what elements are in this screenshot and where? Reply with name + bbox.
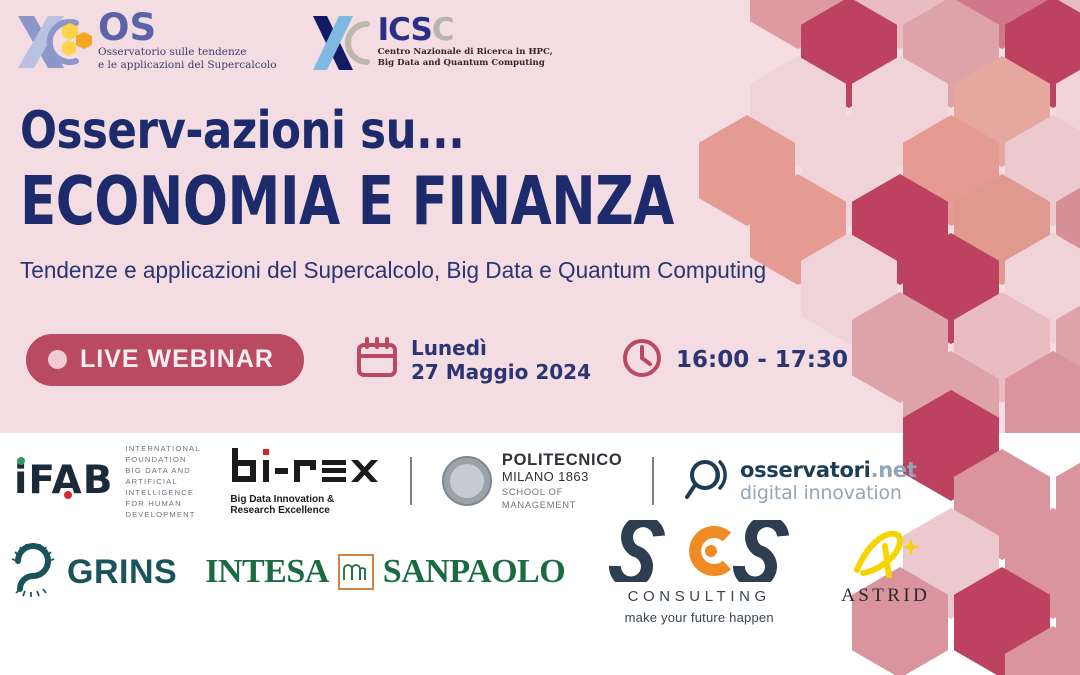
- sanpaolo-word: SANPAOLO: [383, 553, 565, 591]
- ifab-tagline: INTERNATIONAL FOUNDATION BIG DATA AND AR…: [125, 443, 200, 520]
- icsc-text-block: ICSC Centro Nazionale di Ricerca in HPC,…: [378, 17, 553, 68]
- headline-subtitle: Tendenze e applicazioni del Supercalcolo…: [20, 255, 865, 285]
- logo-intesa-sanpaolo: INTESA SANPAOLO: [205, 553, 565, 591]
- header-logo-bar: OS Osservatorio sulle tendenze e le appl…: [14, 10, 553, 74]
- logo-birex: Big Data Innovation & Research Excellenc…: [230, 446, 380, 516]
- date-text: Lunedì 27 Maggio 2024: [411, 336, 591, 384]
- date-weekday: Lunedì: [411, 336, 591, 360]
- icsc-x-chevron-icon: [311, 12, 375, 74]
- magnifier-icon: [684, 456, 730, 507]
- grins-sun-icon: [10, 541, 56, 604]
- headline-line1: Osserv-azioni su...: [20, 103, 838, 159]
- astrid-a-star-icon: [849, 530, 923, 583]
- xos-x-hexagons-icon: [14, 10, 96, 74]
- logo-astrid: ASTRID: [841, 530, 930, 607]
- logo-xos: OS Osservatorio sulle tendenze e le appl…: [14, 10, 277, 74]
- sponsor-divider-1: [410, 457, 412, 505]
- xos-subtitle: Osservatorio sulle tendenze e le applica…: [98, 46, 277, 71]
- ifab-red-dot-icon: [64, 491, 72, 499]
- headline-block: Osserv-azioni su... ECONOMIA E FINANZA T…: [20, 103, 900, 285]
- birex-wordmark: [230, 446, 380, 491]
- time-value: 16:00 - 17:30: [676, 347, 848, 373]
- webinar-poster: OS Osservatorio sulle tendenze e le appl…: [0, 0, 1080, 675]
- logo-scs-consulting: CONSULTING make your future happen: [609, 520, 789, 625]
- scs-wordmark-icon: [609, 520, 789, 587]
- grins-wordmark: GRINS: [67, 553, 177, 592]
- logo-politecnico-milano: POLITECNICO MILANO 1863 SCHOOL OF MANAGE…: [442, 451, 622, 511]
- live-webinar-badge[interactable]: LIVE WEBINAR: [26, 334, 304, 386]
- osservatori-tld: .net: [871, 458, 917, 482]
- sponsor-logos: iFAB INTERNATIONAL FOUNDATION BIG DATA A…: [0, 445, 880, 621]
- logo-icsc: ICSC Centro Nazionale di Ricerca in HPC,…: [311, 12, 553, 74]
- osservatori-line1: osservatori.net: [740, 459, 917, 482]
- politecnico-line3: SCHOOL OF MANAGEMENT: [502, 485, 622, 511]
- osservatori-name: osservatori: [740, 458, 871, 482]
- xos-text-block: OS Osservatorio sulle tendenze e le appl…: [98, 13, 277, 71]
- osservatori-line2: digital innovation: [740, 482, 917, 504]
- sponsor-row-2: GRINS INTESA SANPAOLO: [0, 523, 880, 621]
- politecnico-line1: POLITECNICO: [502, 451, 622, 469]
- politecnico-line2: MILANO 1863: [502, 469, 622, 485]
- info-row: LIVE WEBINAR Lunedì 27 Maggio 2024: [26, 334, 848, 386]
- logo-grins: GRINS: [10, 541, 177, 604]
- clock-icon: [621, 337, 663, 384]
- sponsor-divider-2: [652, 457, 654, 505]
- ifab-green-dot-icon: [17, 457, 25, 465]
- birex-tagline: Big Data Innovation & Research Excellenc…: [230, 494, 380, 516]
- scs-slogan: make your future happen: [625, 610, 774, 625]
- logo-osservatori-net: osservatori.net digital innovation: [684, 456, 917, 507]
- date-group: Lunedì 27 Maggio 2024: [356, 336, 591, 384]
- icsc-acronym: ICSC: [378, 17, 553, 44]
- xos-acronym: OS: [98, 13, 277, 43]
- astrid-wordmark: ASTRID: [841, 585, 930, 607]
- time-group: 16:00 - 17:30: [621, 337, 848, 384]
- scs-subtitle: CONSULTING: [628, 588, 771, 605]
- sponsor-row-1: iFAB INTERNATIONAL FOUNDATION BIG DATA A…: [0, 445, 880, 517]
- live-dot-icon: [48, 350, 67, 369]
- icsc-subtitle: Centro Nazionale di Ricerca in HPC, Big …: [378, 47, 553, 68]
- icsc-acronym-tail: C: [432, 12, 454, 48]
- logo-ifab: iFAB INTERNATIONAL FOUNDATION BIG DATA A…: [14, 443, 200, 520]
- ifab-wordmark: iFAB: [14, 461, 113, 501]
- calendar-icon: [356, 337, 398, 384]
- date-value: 27 Maggio 2024: [411, 360, 591, 384]
- intesa-word: INTESA: [205, 553, 329, 591]
- icsc-acronym-main: ICS: [378, 12, 432, 48]
- politecnico-seal-icon: [442, 456, 492, 506]
- osservatori-text-block: osservatori.net digital innovation: [740, 459, 917, 504]
- live-webinar-label: LIVE WEBINAR: [80, 345, 274, 374]
- arches-square-icon: [338, 554, 374, 590]
- politecnico-text-block: POLITECNICO MILANO 1863 SCHOOL OF MANAGE…: [502, 451, 622, 511]
- headline-line2: ECONOMIA E FINANZA: [20, 165, 794, 237]
